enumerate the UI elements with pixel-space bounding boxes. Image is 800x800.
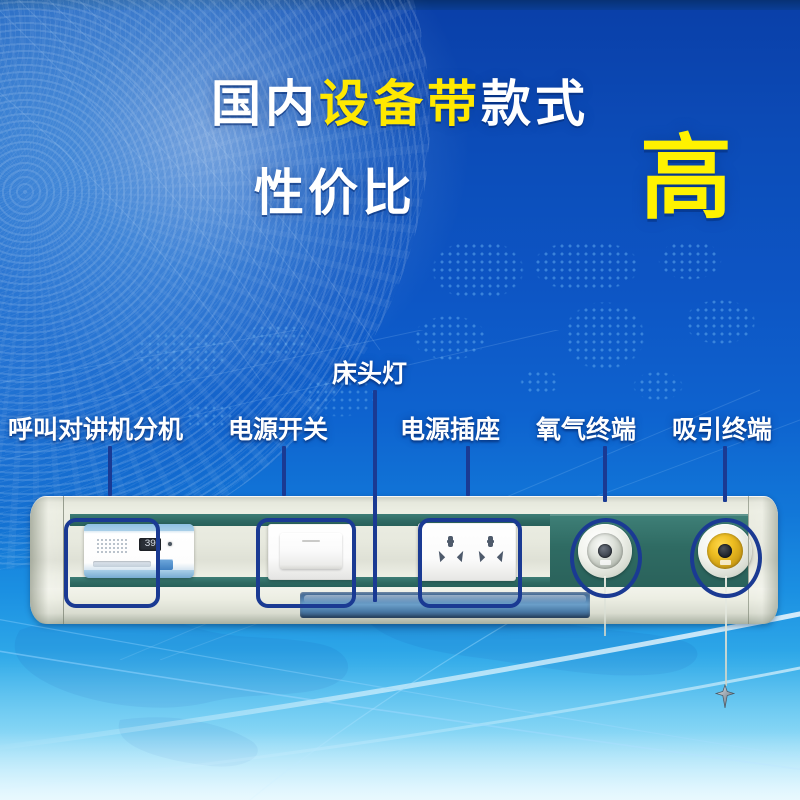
leader-line-intercom — [108, 446, 112, 496]
highlight-box-power-switch — [256, 518, 356, 608]
callout-label-power-switch: 电源开关 — [228, 418, 328, 443]
leader-line-suction — [723, 446, 727, 502]
callout-label-intercom: 呼叫对讲机分机 — [8, 418, 183, 443]
highlight-box-power-socket — [418, 518, 522, 608]
highlight-circle-oxygen — [570, 518, 642, 598]
callout-label-suction: 吸引终端 — [672, 418, 772, 443]
leader-line-bed-lamp — [373, 390, 377, 602]
callout-layer: 呼叫对讲机分机 电源开关 床头灯 电源插座 氧气终端 吸引终端 — [0, 0, 800, 800]
leader-line-oxygen — [603, 446, 607, 502]
callout-label-oxygen: 氧气终端 — [536, 418, 636, 443]
banner-stage: 国内设备带款式 性价比 高 呼叫对讲机分机 电源开关 床头灯 电源插座 氧气终端… — [0, 0, 800, 800]
highlight-circle-suction — [690, 518, 762, 598]
leader-line-power-switch — [282, 446, 286, 496]
highlight-box-intercom — [64, 518, 160, 608]
callout-label-power-socket: 电源插座 — [400, 418, 500, 443]
leader-line-power-socket — [466, 446, 470, 496]
callout-label-bed-lamp: 床头灯 — [332, 362, 407, 387]
